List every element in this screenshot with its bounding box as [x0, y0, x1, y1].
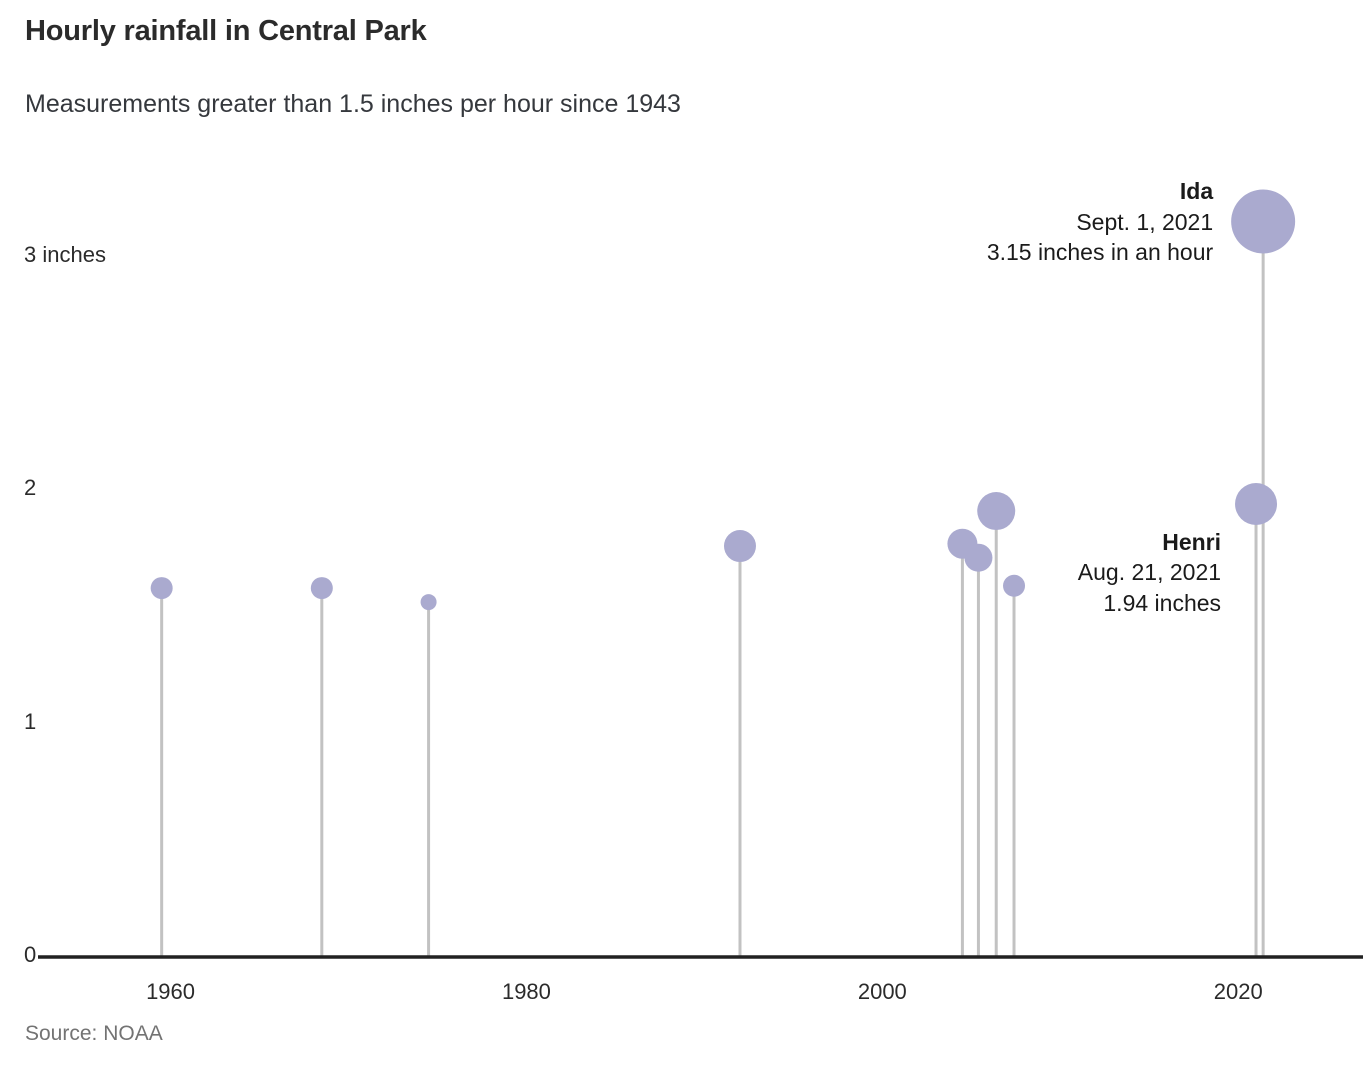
data-point[interactable]: [1003, 575, 1025, 597]
data-point[interactable]: [421, 594, 437, 610]
x-axis-tick-label-2000: 2000: [858, 979, 907, 1005]
annotation-henri-value: 1.94 inches: [1078, 588, 1221, 618]
data-point[interactable]: [977, 492, 1015, 530]
annotation-henri: Henri Aug. 21, 2021 1.94 inches: [1078, 527, 1221, 618]
chart-page: Hourly rainfall in Central Park Measurem…: [0, 0, 1368, 1074]
annotation-henri-name: Henri: [1078, 527, 1221, 557]
x-axis-tick-label-1980: 1980: [502, 979, 551, 1005]
data-point-henri[interactable]: [1235, 483, 1277, 525]
x-axis-tick-label-1960: 1960: [146, 979, 195, 1005]
y-axis-tick-label-1: 1: [24, 709, 36, 735]
data-point[interactable]: [311, 577, 333, 599]
annotation-ida-name: Ida: [987, 176, 1213, 206]
data-point-ida[interactable]: [1231, 189, 1295, 253]
annotation-henri-date: Aug. 21, 2021: [1078, 557, 1221, 587]
annotation-ida-date: Sept. 1, 2021: [987, 207, 1213, 237]
annotation-ida: Ida Sept. 1, 2021 3.15 inches in an hour: [987, 176, 1213, 267]
data-point[interactable]: [724, 530, 756, 562]
annotation-ida-value: 3.15 inches in an hour: [987, 237, 1213, 267]
y-axis-tick-label-0: 0: [24, 942, 36, 968]
data-point[interactable]: [964, 544, 992, 572]
y-axis-tick-label-2: 2: [24, 475, 36, 501]
x-axis-tick-label-2020: 2020: [1214, 979, 1263, 1005]
data-point[interactable]: [151, 577, 173, 599]
y-axis-tick-label-3: 3 inches: [24, 242, 106, 268]
source-note: Source: NOAA: [25, 1022, 163, 1046]
